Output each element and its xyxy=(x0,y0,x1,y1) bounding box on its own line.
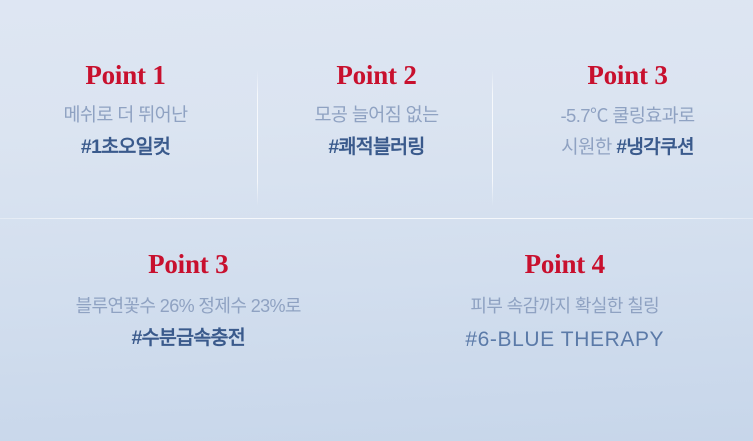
point-4-description: 블루연꽃수 26% 정제수 23%로 xyxy=(6,297,371,315)
point-5-description: 피부 속감까지 확실한 칠링 xyxy=(383,297,748,315)
column-divider-2 xyxy=(492,70,493,206)
column-divider-1 xyxy=(257,70,258,206)
point-5-title: Point 4 xyxy=(383,250,748,280)
point-1-title: Point 1 xyxy=(6,61,245,91)
point-3-hashtag-lead: 시원한 xyxy=(561,137,616,158)
point-1-description: 메쉬로 더 뛰어난 xyxy=(6,106,245,125)
point-2-title: Point 2 xyxy=(257,61,496,91)
point-3-hashtag: #냉각쿠션 xyxy=(616,137,694,158)
point-4-title: Point 3 xyxy=(6,250,371,280)
point-3-hashtag-line: 시원한 #냉각쿠션 xyxy=(508,138,747,157)
point-card-5: Point 4 피부 속감까지 확실한 칠링 #6-BLUE THERAPY xyxy=(377,218,753,350)
product-points-infographic: Point 1 메쉬로 더 뛰어난 #1초오일컷 Point 2 모공 늘어짐 … xyxy=(0,0,753,441)
point-5-hashtag: #6-BLUE THERAPY xyxy=(383,329,748,350)
point-3-description: -5.7℃ 쿨링효과로 xyxy=(508,107,747,126)
points-row-bottom: Point 3 블루연꽃수 26% 정제수 23%로 #수분급속충전 Point… xyxy=(0,218,753,441)
points-row-top: Point 1 메쉬로 더 뛰어난 #1초오일컷 Point 2 모공 늘어짐 … xyxy=(0,0,753,218)
point-1-hashtag: #1초오일컷 xyxy=(6,138,245,158)
point-card-1: Point 1 메쉬로 더 뛰어난 #1초오일컷 xyxy=(0,61,251,158)
point-card-4: Point 3 블루연꽃수 26% 정제수 23%로 #수분급속충전 xyxy=(0,218,377,348)
point-2-description: 모공 늘어짐 없는 xyxy=(257,106,496,125)
point-2-hashtag: #쾌적블러링 xyxy=(257,138,496,158)
point-card-3: Point 3 -5.7℃ 쿨링효과로 시원한 #냉각쿠션 xyxy=(502,61,753,157)
point-4-hashtag: #수분급속충전 xyxy=(6,329,371,349)
point-card-2: Point 2 모공 늘어짐 없는 #쾌적블러링 xyxy=(251,61,502,158)
point-3-title: Point 3 xyxy=(508,61,747,91)
